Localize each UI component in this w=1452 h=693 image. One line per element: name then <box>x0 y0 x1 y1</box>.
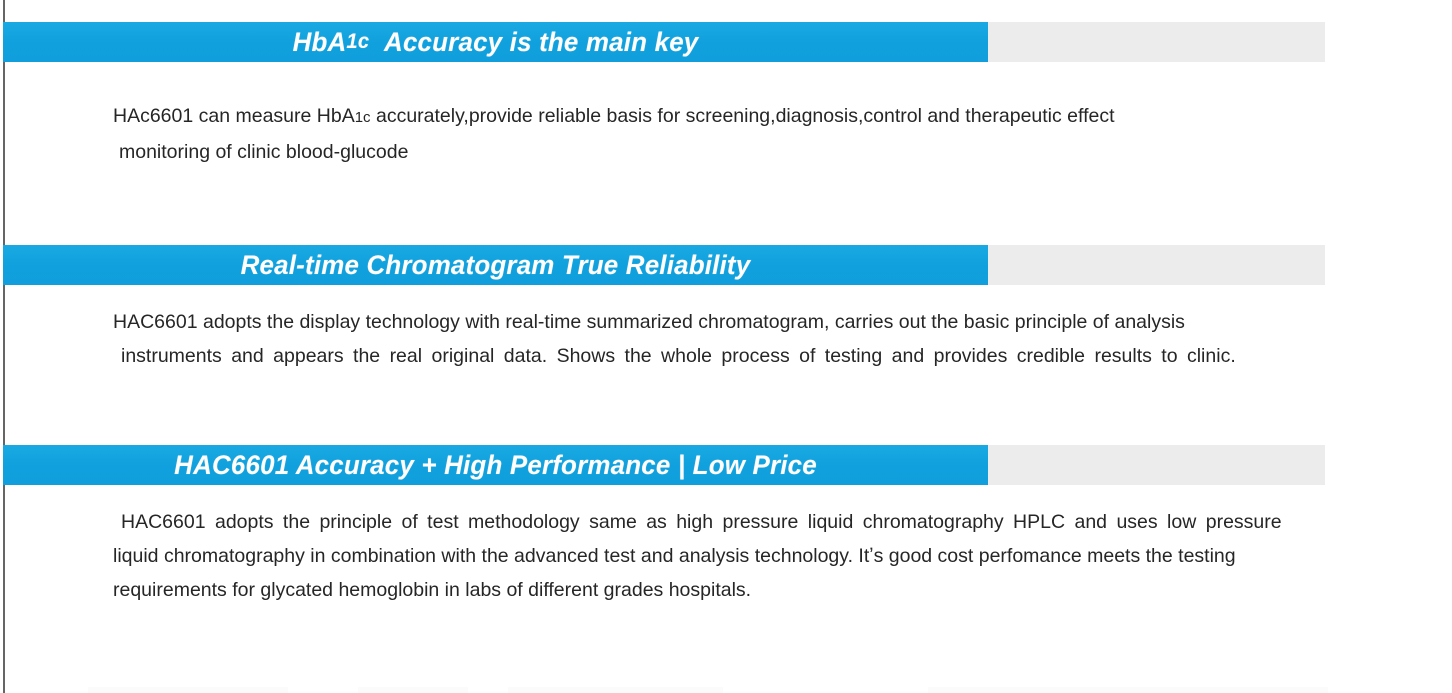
paragraph-3-line-2: liquid chromatography in combination wit… <box>113 539 1282 573</box>
section-heading-1-lead: HbA <box>293 27 347 58</box>
paragraph-2-line-2: instruments and appears the real origina… <box>113 339 1236 373</box>
section-heading-3: HAC6601 Accuracy + High Performance | Lo… <box>23 445 969 485</box>
section-accuracy-performance-price: HAC6601 Accuracy + High Performance | Lo… <box>0 445 1452 485</box>
paragraph-2-line-1: HAC6601 adopts the display technology wi… <box>113 305 1236 339</box>
paragraph-3-line-1: HAC6601 adopts the principle of test met… <box>113 505 1282 539</box>
bottom-edge-cutoff-content <box>0 685 1452 693</box>
section-paragraph-2: HAC6601 adopts the display technology wi… <box>113 305 1236 373</box>
paragraph-3-line-3: requirements for glycated hemoglobin in … <box>113 573 1282 607</box>
section-heading-1-rest: Accuracy is the main key <box>384 27 698 58</box>
section-paragraph-1: HAc6601 can measure HbA1c accurately,pro… <box>113 99 1115 169</box>
section-realtime-chromatogram: Real-time Chromatogram True Reliability … <box>0 245 1452 285</box>
paragraph-1-line-1-suffix: accurately,provide reliable basis for sc… <box>371 105 1115 127</box>
paragraph-1-line-1-prefix: HAc6601 can measure HbA <box>113 105 355 127</box>
section-heading-1-subscript: 1c <box>346 30 369 54</box>
section-banner-2: Real-time Chromatogram True Reliability <box>3 245 1325 285</box>
paragraph-1-line-1-subscript: 1c <box>355 109 371 126</box>
section-heading-2: Real-time Chromatogram True Reliability <box>23 245 969 285</box>
paragraph-1-line-1: HAc6601 can measure HbA1c accurately,pro… <box>113 99 1115 135</box>
section-heading-1: HbA1c Accuracy is the main key <box>23 22 969 62</box>
paragraph-1-line-2: monitoring of clinic blood-glucode <box>113 135 1115 169</box>
section-hba1c-accuracy: HbA1c Accuracy is the main key HAc6601 c… <box>0 22 1452 62</box>
section-paragraph-3: HAC6601 adopts the principle of test met… <box>113 505 1282 607</box>
page-left-border-rule <box>3 0 5 693</box>
section-banner-3: HAC6601 Accuracy + High Performance | Lo… <box>3 445 1325 485</box>
document-page: HbA1c Accuracy is the main key HAc6601 c… <box>0 0 1452 693</box>
section-banner-1: HbA1c Accuracy is the main key <box>3 22 1325 62</box>
